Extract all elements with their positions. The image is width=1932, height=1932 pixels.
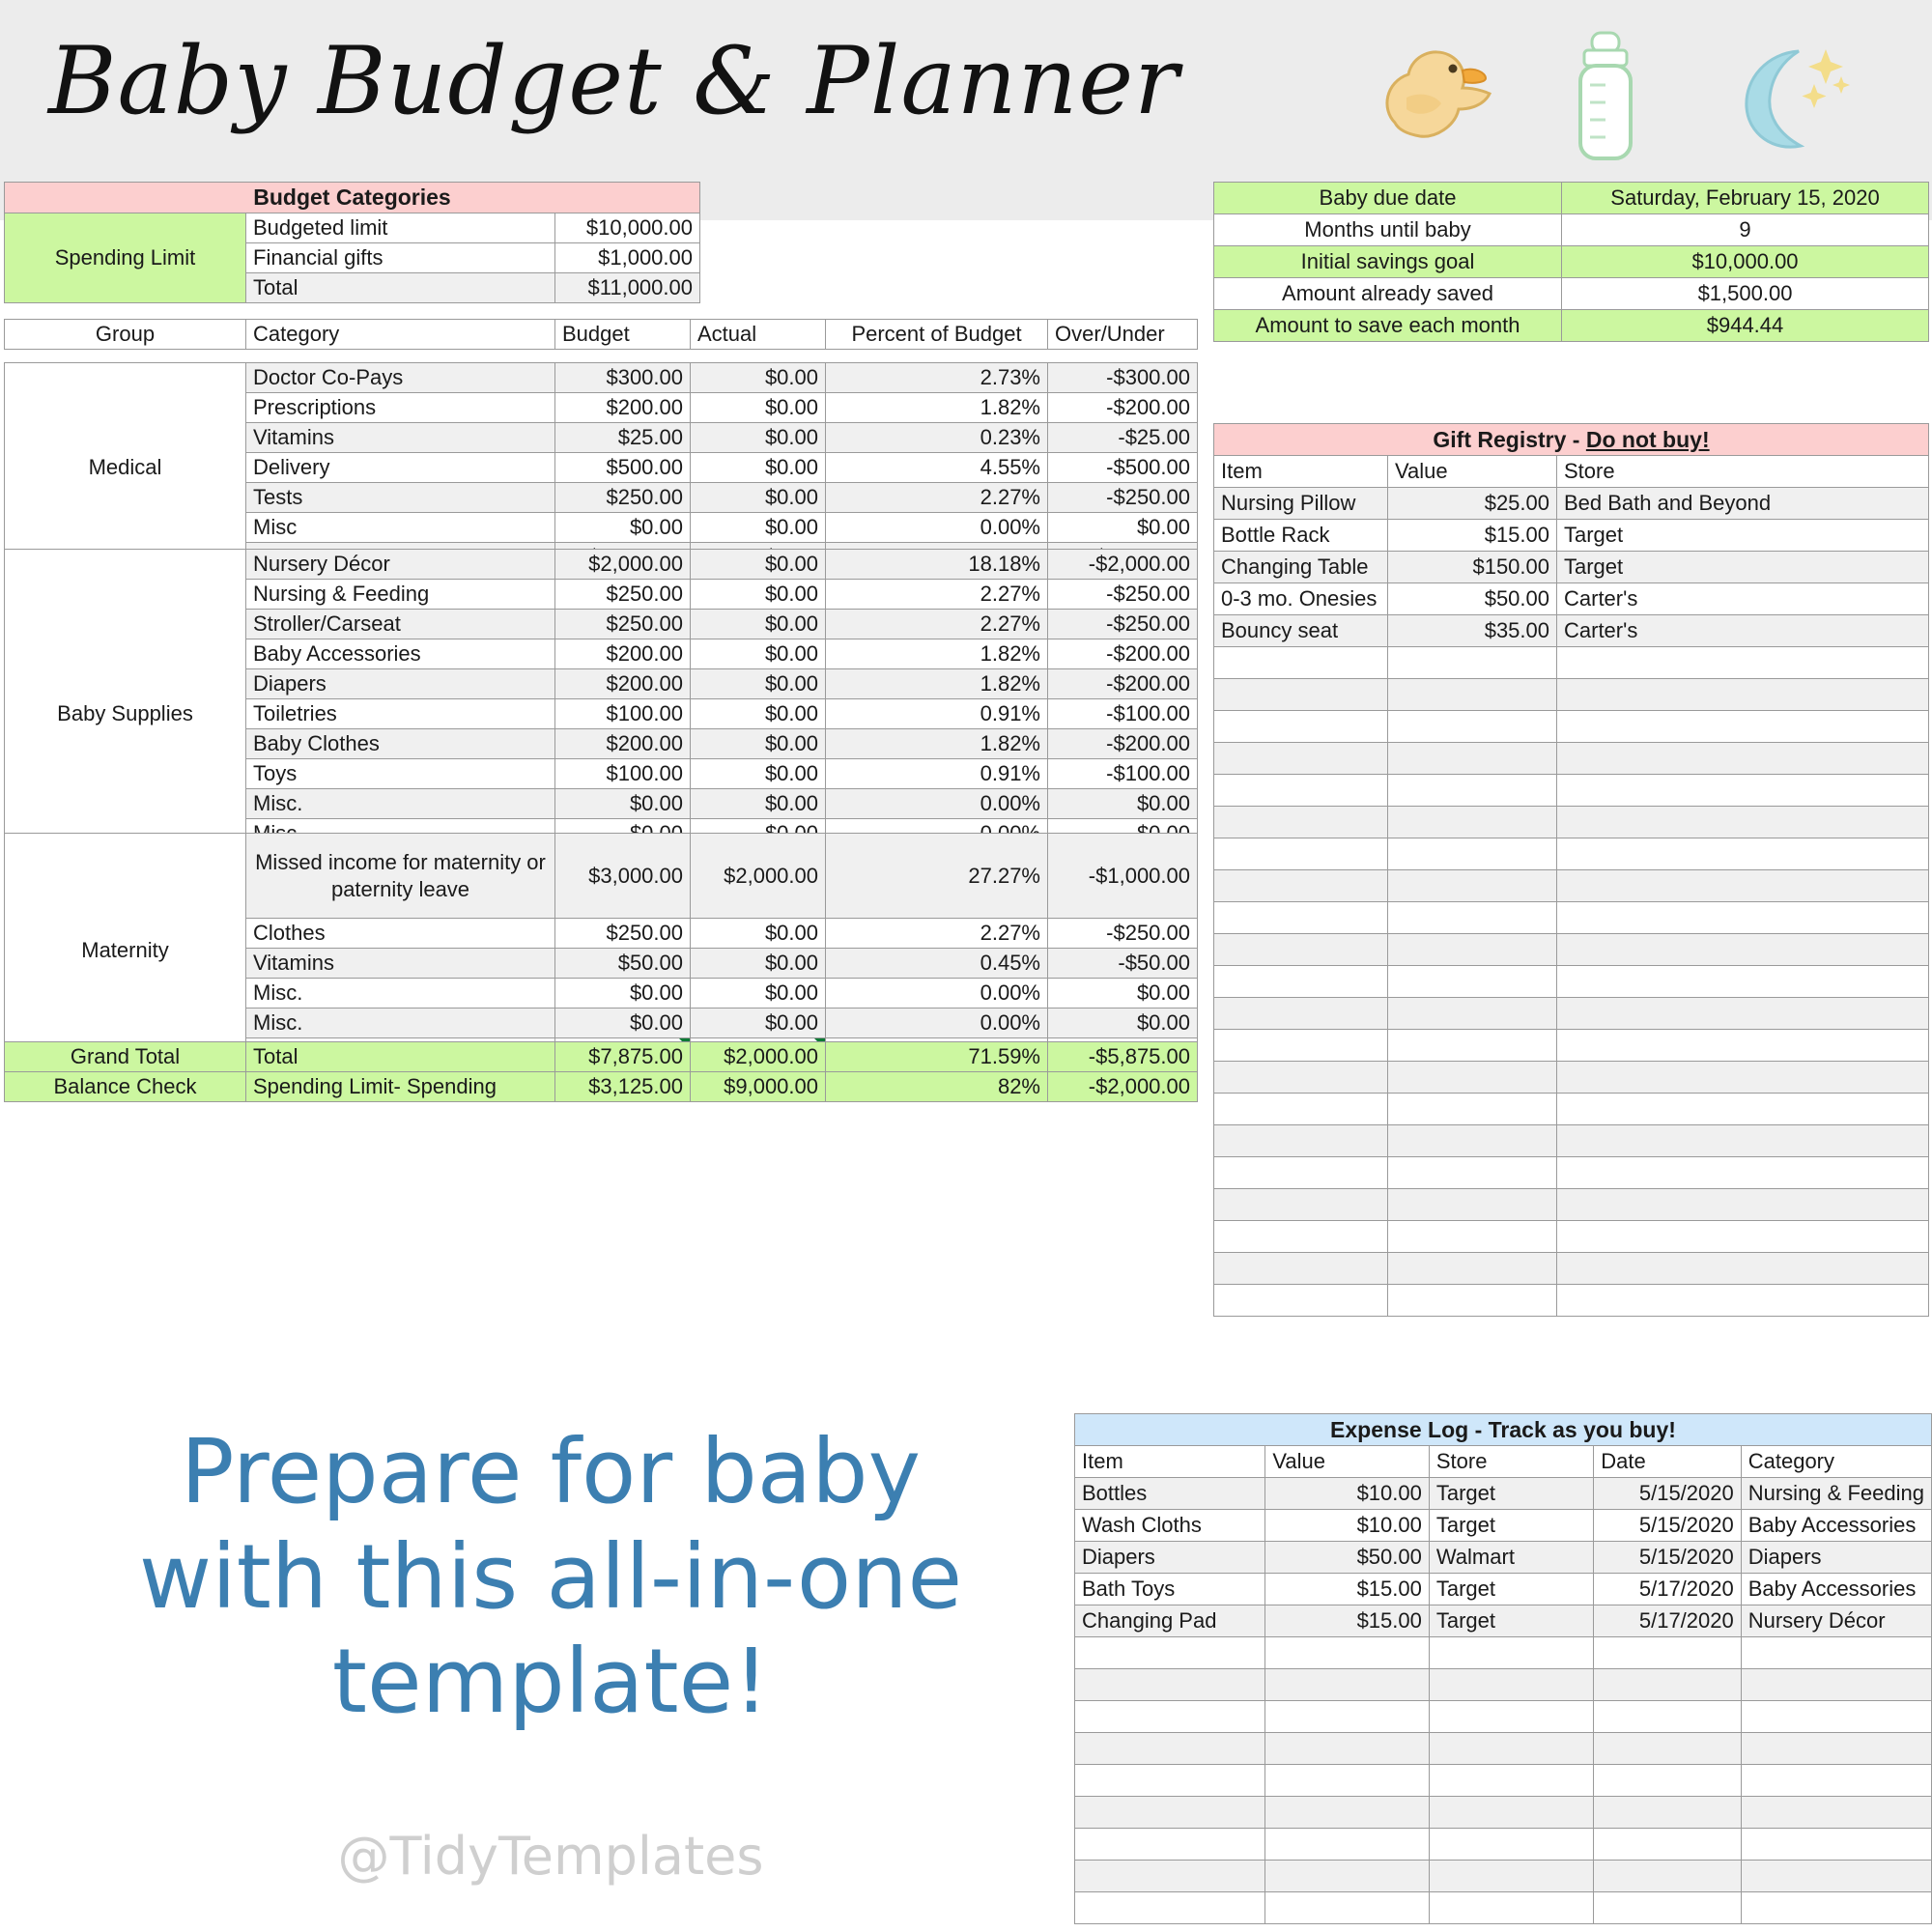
registry-empty-cell[interactable]	[1557, 1157, 1929, 1189]
expense-store-cell[interactable]: Target	[1429, 1574, 1593, 1605]
budget-group-label: Maternity	[5, 834, 246, 1068]
spending-row-label[interactable]: Budgeted limit	[246, 213, 555, 243]
registry-empty-cell[interactable]	[1214, 1062, 1388, 1094]
actual-amount-cell[interactable]: $0.00	[691, 699, 826, 729]
expense-empty-cell[interactable]	[1594, 1637, 1742, 1669]
table-row-empty	[1075, 1669, 1932, 1701]
registry-value-cell[interactable]: $15.00	[1388, 520, 1557, 552]
registry-empty-cell[interactable]	[1557, 1253, 1929, 1285]
registry-empty-cell[interactable]	[1214, 807, 1388, 838]
budget-amount-cell[interactable]: $100.00	[555, 759, 691, 789]
registry-empty-cell[interactable]	[1388, 647, 1557, 679]
budget-category-cell[interactable]: Toys	[246, 759, 555, 789]
registry-empty-cell[interactable]	[1388, 1094, 1557, 1125]
expense-item-cell[interactable]: Bottles	[1075, 1478, 1265, 1510]
actual-amount-cell[interactable]: $0.00	[691, 393, 826, 423]
budget-group-label: Baby Supplies	[5, 550, 246, 879]
actual-amount-cell[interactable]: $0.00	[691, 363, 826, 393]
due-date-value[interactable]: $10,000.00	[1562, 246, 1929, 278]
budget-amount-cell[interactable]: $200.00	[555, 639, 691, 669]
registry-empty-cell[interactable]	[1388, 711, 1557, 743]
actual-amount-cell[interactable]: $0.00	[691, 513, 826, 543]
percent-of-budget-cell: 0.91%	[826, 759, 1048, 789]
expense-value-cell[interactable]: $15.00	[1265, 1605, 1430, 1637]
table-row: Amount already saved$1,500.00	[1214, 278, 1929, 310]
registry-value-cell[interactable]: $50.00	[1388, 583, 1557, 615]
registry-empty-cell[interactable]	[1214, 902, 1388, 934]
budget-amount-cell[interactable]: $200.00	[555, 669, 691, 699]
expense-log-header-row: Item Value Store Date Category	[1075, 1446, 1932, 1478]
expense-store-cell[interactable]: Target	[1429, 1510, 1593, 1542]
expense-value-cell[interactable]: $50.00	[1265, 1542, 1430, 1574]
expense-empty-cell[interactable]	[1741, 1797, 1931, 1829]
registry-empty-cell[interactable]	[1214, 1189, 1388, 1221]
budget-category-cell[interactable]: Tests	[246, 483, 555, 513]
expense-date-cell[interactable]: 5/15/2020	[1594, 1478, 1742, 1510]
gift-registry-title-prefix: Gift Registry -	[1433, 427, 1585, 452]
expense-empty-cell[interactable]	[1075, 1765, 1265, 1797]
expense-empty-cell[interactable]	[1265, 1861, 1430, 1892]
registry-empty-cell[interactable]	[1557, 902, 1929, 934]
table-row: Baby due dateSaturday, February 15, 2020	[1214, 183, 1929, 214]
expense-empty-cell[interactable]	[1741, 1861, 1931, 1892]
grand-total-label: Balance Check	[5, 1072, 246, 1102]
expense-store-cell[interactable]: Walmart	[1429, 1542, 1593, 1574]
budget-category-cell[interactable]: Toiletries	[246, 699, 555, 729]
expense-item-cell[interactable]: Bath Toys	[1075, 1574, 1265, 1605]
grand-total-over-under: -$5,875.00	[1048, 1042, 1198, 1072]
registry-store-cell[interactable]: Bed Bath and Beyond	[1557, 488, 1929, 520]
registry-item-cell[interactable]: Bottle Rack	[1214, 520, 1388, 552]
table-row-empty	[1214, 1094, 1929, 1125]
registry-empty-cell[interactable]	[1557, 870, 1929, 902]
budget-amount-cell[interactable]: $250.00	[555, 919, 691, 949]
table-row-empty	[1075, 1861, 1932, 1892]
expense-col-category: Category	[1741, 1446, 1931, 1478]
budget-category-cell[interactable]: Doctor Co-Pays	[246, 363, 555, 393]
registry-empty-cell[interactable]	[1557, 1189, 1929, 1221]
budget-amount-cell[interactable]: $200.00	[555, 393, 691, 423]
expense-empty-cell[interactable]	[1429, 1765, 1593, 1797]
expense-empty-cell[interactable]	[1075, 1892, 1265, 1924]
table-row: Amount to save each month$944.44	[1214, 310, 1929, 342]
actual-amount-cell[interactable]: $0.00	[691, 580, 826, 610]
registry-empty-cell[interactable]	[1214, 647, 1388, 679]
expense-date-cell[interactable]: 5/17/2020	[1594, 1574, 1742, 1605]
registry-item-cell[interactable]: Nursing Pillow	[1214, 488, 1388, 520]
registry-empty-cell[interactable]	[1557, 1062, 1929, 1094]
table-row: Wash Cloths$10.00Target5/15/2020Baby Acc…	[1075, 1510, 1932, 1542]
registry-empty-cell[interactable]	[1557, 1221, 1929, 1253]
expense-empty-cell[interactable]	[1075, 1669, 1265, 1701]
budget-category-cell[interactable]: Baby Clothes	[246, 729, 555, 759]
budget-amount-cell[interactable]: $200.00	[555, 729, 691, 759]
registry-empty-cell[interactable]	[1557, 998, 1929, 1030]
table-row: Bottles$10.00Target5/15/2020Nursing & Fe…	[1075, 1478, 1932, 1510]
promo-line-2: with this all-in-one	[116, 1525, 985, 1631]
actual-amount-cell[interactable]: $0.00	[691, 639, 826, 669]
budget-amount-cell[interactable]: $2,000.00	[555, 550, 691, 580]
budget-amount-cell[interactable]: $300.00	[555, 363, 691, 393]
expense-empty-cell[interactable]	[1741, 1892, 1931, 1924]
grand-total-budget: $7,875.00	[555, 1042, 691, 1072]
registry-col-value: Value	[1388, 456, 1557, 488]
spending-row-label: Total	[246, 273, 555, 303]
budget-group-label: Medical	[5, 363, 246, 573]
over-under-cell: -$1,000.00	[1048, 834, 1198, 919]
registry-empty-cell[interactable]	[1214, 1094, 1388, 1125]
expense-empty-cell[interactable]	[1265, 1765, 1430, 1797]
expense-empty-cell[interactable]	[1741, 1765, 1931, 1797]
table-row: Bouncy seat$35.00Carter's	[1214, 615, 1929, 647]
expense-value-cell[interactable]: $15.00	[1265, 1574, 1430, 1605]
table-row-empty	[1075, 1701, 1932, 1733]
expense-log-title: Expense Log - Track as you buy!	[1075, 1414, 1932, 1446]
registry-empty-cell[interactable]	[1388, 934, 1557, 966]
table-row-empty	[1214, 711, 1929, 743]
spending-limit-table: Budget Categories Spending Limit Budgete…	[4, 182, 700, 303]
registry-empty-cell[interactable]	[1557, 711, 1929, 743]
table-row-empty	[1075, 1765, 1932, 1797]
registry-empty-cell[interactable]	[1388, 1253, 1557, 1285]
registry-empty-cell[interactable]	[1214, 966, 1388, 998]
expense-empty-cell[interactable]	[1741, 1701, 1931, 1733]
budget-category-cell[interactable]: Misc	[246, 513, 555, 543]
registry-empty-cell[interactable]	[1557, 934, 1929, 966]
actual-amount-cell[interactable]: $0.00	[691, 423, 826, 453]
over-under-cell: -$200.00	[1048, 393, 1198, 423]
registry-empty-cell[interactable]	[1388, 1157, 1557, 1189]
budget-amount-cell[interactable]: $500.00	[555, 453, 691, 483]
registry-empty-cell[interactable]	[1214, 934, 1388, 966]
registry-empty-cell[interactable]	[1557, 966, 1929, 998]
over-under-cell: -$500.00	[1048, 453, 1198, 483]
expense-empty-cell[interactable]	[1429, 1892, 1593, 1924]
registry-empty-cell[interactable]	[1214, 1285, 1388, 1317]
table-row-empty	[1214, 807, 1929, 838]
expense-empty-cell[interactable]	[1429, 1797, 1593, 1829]
registry-item-cell[interactable]: Bouncy seat	[1214, 615, 1388, 647]
expense-store-cell[interactable]: Target	[1429, 1605, 1593, 1637]
over-under-cell: -$200.00	[1048, 729, 1198, 759]
registry-store-cell[interactable]: Target	[1557, 552, 1929, 583]
actual-amount-cell[interactable]: $0.00	[691, 669, 826, 699]
expense-category-cell[interactable]: Baby Accessories	[1741, 1574, 1931, 1605]
expense-category-cell[interactable]: Diapers	[1741, 1542, 1931, 1574]
grand-total-actual: $9,000.00	[691, 1072, 826, 1102]
grand-total-percent: 82%	[826, 1072, 1048, 1102]
gift-registry-title-row: Gift Registry - Do not buy!	[1214, 424, 1929, 456]
registry-empty-cell[interactable]	[1388, 966, 1557, 998]
table-row-empty	[1214, 838, 1929, 870]
registry-empty-cell[interactable]	[1557, 743, 1929, 775]
expense-empty-cell[interactable]	[1265, 1733, 1430, 1765]
expense-empty-cell[interactable]	[1741, 1637, 1931, 1669]
due-date-value[interactable]: 9	[1562, 214, 1929, 246]
registry-empty-cell[interactable]	[1388, 838, 1557, 870]
budget-category-cell[interactable]: Clothes	[246, 919, 555, 949]
expense-date-cell[interactable]: 5/15/2020	[1594, 1542, 1742, 1574]
gift-registry-title-emphasis: Do not buy!	[1586, 427, 1710, 452]
grand-total-budget: $3,125.00	[555, 1072, 691, 1102]
actual-amount-cell[interactable]: $0.00	[691, 979, 826, 1009]
expense-item-cell[interactable]: Changing Pad	[1075, 1605, 1265, 1637]
expense-empty-cell[interactable]	[1075, 1797, 1265, 1829]
budget-group-baby-supplies: Baby SuppliesNursery Décor$2,000.00$0.00…	[4, 549, 1198, 879]
actual-amount-cell[interactable]: $0.00	[691, 759, 826, 789]
actual-amount-cell[interactable]: $0.00	[691, 919, 826, 949]
gift-registry-body: Gift Registry - Do not buy! Item Value S…	[1214, 424, 1929, 1317]
budget-header-row: Group Category Budget Actual Percent of …	[5, 320, 1198, 350]
spending-row-label[interactable]: Financial gifts	[246, 243, 555, 273]
promo-line-1: Prepare for baby	[116, 1420, 985, 1525]
registry-item-cell[interactable]: 0-3 mo. Onesies	[1214, 583, 1388, 615]
table-row: MaternityMissed income for maternity or …	[5, 834, 1198, 919]
table-row: Initial savings goal$10,000.00	[1214, 246, 1929, 278]
expense-value-cell[interactable]: $10.00	[1265, 1478, 1430, 1510]
budget-category-cell[interactable]: Misc.	[246, 1009, 555, 1038]
due-date-value[interactable]: $1,500.00	[1562, 278, 1929, 310]
expense-empty-cell[interactable]	[1429, 1733, 1593, 1765]
budget-amount-cell[interactable]: $0.00	[555, 789, 691, 819]
expense-empty-cell[interactable]	[1265, 1892, 1430, 1924]
col-header-category: Category	[246, 320, 555, 350]
registry-empty-cell[interactable]	[1388, 998, 1557, 1030]
percent-of-budget-cell: 0.91%	[826, 699, 1048, 729]
actual-amount-cell[interactable]: $0.00	[691, 789, 826, 819]
actual-amount-cell[interactable]: $0.00	[691, 453, 826, 483]
expense-empty-cell[interactable]	[1594, 1701, 1742, 1733]
percent-of-budget-cell: 1.82%	[826, 393, 1048, 423]
registry-empty-cell[interactable]	[1388, 1189, 1557, 1221]
expense-category-cell[interactable]: Nursery Décor	[1741, 1605, 1931, 1637]
actual-amount-cell[interactable]: $0.00	[691, 610, 826, 639]
expense-value-cell[interactable]: $10.00	[1265, 1510, 1430, 1542]
registry-empty-cell[interactable]	[1388, 775, 1557, 807]
expense-category-cell[interactable]: Nursing & Feeding	[1741, 1478, 1931, 1510]
registry-empty-cell[interactable]	[1388, 870, 1557, 902]
registry-empty-cell[interactable]	[1214, 870, 1388, 902]
due-date-value[interactable]: Saturday, February 15, 2020	[1562, 183, 1929, 214]
registry-empty-cell[interactable]	[1214, 838, 1388, 870]
registry-empty-cell[interactable]	[1557, 679, 1929, 711]
over-under-cell: $0.00	[1048, 789, 1198, 819]
col-header-actual: Actual	[691, 320, 826, 350]
expense-date-cell[interactable]: 5/17/2020	[1594, 1605, 1742, 1637]
registry-empty-cell[interactable]	[1214, 1221, 1388, 1253]
registry-store-cell[interactable]: Carter's	[1557, 615, 1929, 647]
over-under-cell: -$200.00	[1048, 639, 1198, 669]
budget-category-cell[interactable]: Vitamins	[246, 423, 555, 453]
table-row: Changing Pad$15.00Target5/17/2020Nursery…	[1075, 1605, 1932, 1637]
expense-item-cell[interactable]: Wash Cloths	[1075, 1510, 1265, 1542]
registry-empty-cell[interactable]	[1214, 743, 1388, 775]
expense-col-date: Date	[1594, 1446, 1742, 1478]
expense-empty-cell[interactable]	[1075, 1861, 1265, 1892]
table-row: Bath Toys$15.00Target5/17/2020Baby Acces…	[1075, 1574, 1932, 1605]
grand-total-actual: $2,000.00	[691, 1042, 826, 1072]
registry-store-cell[interactable]: Carter's	[1557, 583, 1929, 615]
budget-category-cell[interactable]: Delivery	[246, 453, 555, 483]
registry-empty-cell[interactable]	[1388, 902, 1557, 934]
table-row: Grand TotalTotal$7,875.00$2,000.0071.59%…	[5, 1042, 1198, 1072]
table-row-empty	[1214, 679, 1929, 711]
registry-empty-cell[interactable]	[1557, 807, 1929, 838]
percent-of-budget-cell: 2.27%	[826, 919, 1048, 949]
table-row: Bottle Rack$15.00Target	[1214, 520, 1929, 552]
table-row-empty	[1214, 1062, 1929, 1094]
budget-category-cell[interactable]: Baby Accessories	[246, 639, 555, 669]
budget-amount-cell[interactable]: $250.00	[555, 580, 691, 610]
actual-amount-cell[interactable]: $0.00	[691, 483, 826, 513]
budget-amount-cell[interactable]: $0.00	[555, 979, 691, 1009]
table-row: Spending Limit Budgeted limit $10,000.00	[5, 213, 700, 243]
budget-category-cell[interactable]: Diapers	[246, 669, 555, 699]
budget-category-cell[interactable]: Missed income for maternity or paternity…	[246, 834, 555, 919]
registry-empty-cell[interactable]	[1214, 775, 1388, 807]
expense-empty-cell[interactable]	[1594, 1861, 1742, 1892]
expense-empty-cell[interactable]	[1075, 1701, 1265, 1733]
expense-empty-cell[interactable]	[1265, 1829, 1430, 1861]
table-row-empty	[1075, 1733, 1932, 1765]
expense-empty-cell[interactable]	[1265, 1701, 1430, 1733]
expense-empty-cell[interactable]	[1594, 1669, 1742, 1701]
registry-store-cell[interactable]: Target	[1557, 520, 1929, 552]
registry-empty-cell[interactable]	[1388, 807, 1557, 838]
table-row: Months until baby9	[1214, 214, 1929, 246]
budget-amount-cell[interactable]: $3,000.00	[555, 834, 691, 919]
header-icon-group	[1366, 29, 1855, 164]
due-date-value[interactable]: $944.44	[1562, 310, 1929, 342]
expense-empty-cell[interactable]	[1594, 1765, 1742, 1797]
budget-amount-cell[interactable]: $0.00	[555, 1009, 691, 1038]
budget-group-medical: MedicalDoctor Co-Pays$300.00$0.002.73%-$…	[4, 362, 1198, 573]
registry-empty-cell[interactable]	[1388, 1030, 1557, 1062]
registry-empty-cell[interactable]	[1214, 711, 1388, 743]
expense-empty-cell[interactable]	[1594, 1797, 1742, 1829]
expense-empty-cell[interactable]	[1075, 1829, 1265, 1861]
budget-amount-cell[interactable]: $100.00	[555, 699, 691, 729]
registry-empty-cell[interactable]	[1388, 1285, 1557, 1317]
percent-of-budget-cell: 0.00%	[826, 513, 1048, 543]
registry-empty-cell[interactable]	[1214, 1125, 1388, 1157]
budget-category-cell[interactable]: Prescriptions	[246, 393, 555, 423]
budget-amount-cell[interactable]: $50.00	[555, 949, 691, 979]
registry-empty-cell[interactable]	[1214, 1157, 1388, 1189]
registry-empty-cell[interactable]	[1557, 1094, 1929, 1125]
expense-empty-cell[interactable]	[1075, 1637, 1265, 1669]
budget-amount-cell[interactable]: $0.00	[555, 513, 691, 543]
registry-item-cell[interactable]: Changing Table	[1214, 552, 1388, 583]
expense-empty-cell[interactable]	[1429, 1637, 1593, 1669]
registry-empty-cell[interactable]	[1557, 775, 1929, 807]
registry-empty-cell[interactable]	[1557, 1125, 1929, 1157]
registry-empty-cell[interactable]	[1214, 1253, 1388, 1285]
expense-empty-cell[interactable]	[1265, 1669, 1430, 1701]
registry-empty-cell[interactable]	[1388, 1062, 1557, 1094]
budget-category-cell[interactable]: Vitamins	[246, 949, 555, 979]
actual-amount-cell[interactable]: $0.00	[691, 949, 826, 979]
registry-value-cell[interactable]: $150.00	[1388, 552, 1557, 583]
table-row-empty	[1214, 1030, 1929, 1062]
duck-icon	[1366, 34, 1501, 159]
over-under-cell: $0.00	[1048, 979, 1198, 1009]
expense-empty-cell[interactable]	[1429, 1701, 1593, 1733]
registry-empty-cell[interactable]	[1388, 679, 1557, 711]
spending-row-value[interactable]: $1,000.00	[555, 243, 700, 273]
budget-category-cell[interactable]: Misc.	[246, 789, 555, 819]
budget-category-cell[interactable]: Misc.	[246, 979, 555, 1009]
expense-item-cell[interactable]: Diapers	[1075, 1542, 1265, 1574]
table-row-empty	[1214, 966, 1929, 998]
budget-amount-cell[interactable]: $250.00	[555, 483, 691, 513]
registry-empty-cell[interactable]	[1214, 998, 1388, 1030]
table-row-empty	[1075, 1892, 1932, 1924]
percent-of-budget-cell: 0.23%	[826, 423, 1048, 453]
registry-empty-cell[interactable]	[1557, 1030, 1929, 1062]
registry-empty-cell[interactable]	[1557, 647, 1929, 679]
expense-empty-cell[interactable]	[1594, 1733, 1742, 1765]
expense-empty-cell[interactable]	[1075, 1733, 1265, 1765]
spending-row-value[interactable]: $10,000.00	[555, 213, 700, 243]
expense-empty-cell[interactable]	[1594, 1829, 1742, 1861]
expense-empty-cell[interactable]	[1265, 1797, 1430, 1829]
registry-empty-cell[interactable]	[1388, 743, 1557, 775]
expense-empty-cell[interactable]	[1741, 1669, 1931, 1701]
registry-value-cell[interactable]: $35.00	[1388, 615, 1557, 647]
actual-amount-cell[interactable]: $0.00	[691, 1009, 826, 1038]
budget-category-cell[interactable]: Stroller/Carseat	[246, 610, 555, 639]
expense-date-cell[interactable]: 5/15/2020	[1594, 1510, 1742, 1542]
expense-empty-cell[interactable]	[1741, 1733, 1931, 1765]
expense-empty-cell[interactable]	[1429, 1861, 1593, 1892]
registry-empty-cell[interactable]	[1388, 1221, 1557, 1253]
registry-value-cell[interactable]: $25.00	[1388, 488, 1557, 520]
expense-empty-cell[interactable]	[1429, 1829, 1593, 1861]
spending-row-value: $11,000.00	[555, 273, 700, 303]
over-under-cell: -$250.00	[1048, 919, 1198, 949]
registry-empty-cell[interactable]	[1557, 1285, 1929, 1317]
actual-amount-cell[interactable]: $0.00	[691, 550, 826, 580]
expense-store-cell[interactable]: Target	[1429, 1478, 1593, 1510]
expense-col-value: Value	[1265, 1446, 1430, 1478]
percent-of-budget-cell: 2.73%	[826, 363, 1048, 393]
budget-category-cell[interactable]: Nursing & Feeding	[246, 580, 555, 610]
registry-empty-cell[interactable]	[1388, 1125, 1557, 1157]
actual-amount-cell[interactable]: $2,000.00	[691, 834, 826, 919]
grand-total-category: Total	[246, 1042, 555, 1072]
registry-empty-cell[interactable]	[1214, 1030, 1388, 1062]
expense-category-cell[interactable]: Baby Accessories	[1741, 1510, 1931, 1542]
budget-amount-cell[interactable]: $250.00	[555, 610, 691, 639]
grand-total-category: Spending Limit- Spending	[246, 1072, 555, 1102]
registry-empty-cell[interactable]	[1557, 838, 1929, 870]
maternity-rows: MaternityMissed income for maternity or …	[5, 834, 1198, 1068]
percent-of-budget-cell: 1.82%	[826, 669, 1048, 699]
table-row: Changing Table$150.00Target	[1214, 552, 1929, 583]
actual-amount-cell[interactable]: $0.00	[691, 729, 826, 759]
budget-amount-cell[interactable]: $25.00	[555, 423, 691, 453]
over-under-cell: -$250.00	[1048, 580, 1198, 610]
budget-category-cell[interactable]: Nursery Décor	[246, 550, 555, 580]
percent-of-budget-cell: 0.00%	[826, 789, 1048, 819]
expense-empty-cell[interactable]	[1429, 1669, 1593, 1701]
expense-empty-cell[interactable]	[1741, 1829, 1931, 1861]
registry-empty-cell[interactable]	[1214, 679, 1388, 711]
expense-empty-cell[interactable]	[1594, 1892, 1742, 1924]
due-date-label: Baby due date	[1214, 183, 1562, 214]
expense-empty-cell[interactable]	[1265, 1637, 1430, 1669]
